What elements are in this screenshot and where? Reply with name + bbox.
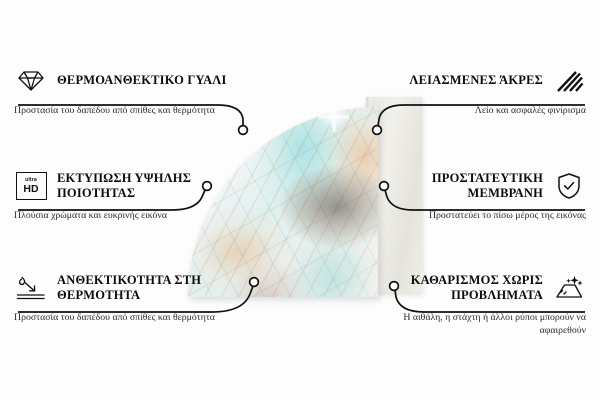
feature-title: ΕΚΤΥΠΩΣΗ ΥΨΗΛΗΣ ΠΟΙΟΤΗΤΑΣ <box>57 171 229 202</box>
feature-header: ΘΕΡΜΟΑΝΘΕΚΤΙΚΟ ΓΥΑΛΙ <box>14 64 229 98</box>
feature-subtitle: Η αιθάλη, η στάχτη ή άλλοι ρύποι μπορούν… <box>371 311 586 337</box>
feature-header: ΚΑΘΑΡΙΣΜΟΣ ΧΩΡΙΣ ΠΡΟΒΛΗΜΑΤΑ <box>371 271 586 305</box>
feature-subtitle: Προστασία του δαπέδου από σπίθες και θερ… <box>14 311 229 324</box>
flame-deflect-icon <box>14 273 48 303</box>
feature-title: ΘΕΡΜΟΑΝΘΕΚΤΙΚΟ ΓΥΑΛΙ <box>57 73 227 88</box>
infographic-canvas: ΘΕΡΜΟΑΝΘΕΚΤΙΚΟ ΓΥΑΛΙ Προστασία του δαπέδ… <box>0 0 600 400</box>
sparkle-clean-icon <box>552 273 586 303</box>
feature-high-quality-print[interactable]: ultra HD ΕΚΤΥΠΩΣΗ ΥΨΗΛΗΣ ΠΟΙΟΤΗΤΑΣ Πλούσ… <box>14 169 229 222</box>
feature-header: ΛΕΙΑΣΜΕΝΕΣ ΆΚΡΕΣ <box>371 64 586 98</box>
feature-header: ΑΝΘΕΚΤΙΚΟΤΗΤΑ ΣΤΗ ΘΕΡΜΟΤΗΤΑ <box>14 271 229 305</box>
ultra-hd-large-label: HD <box>23 184 38 195</box>
feature-subtitle: Πλούσια χρώματα και ευκρινής εικόνα <box>14 209 229 222</box>
feature-header: ultra HD ΕΚΤΥΠΩΣΗ ΥΨΗΛΗΣ ΠΟΙΟΤΗΤΑΣ <box>14 169 229 203</box>
feature-subtitle: Προστατεύει το πίσω μέρος της εικόνας <box>371 209 586 222</box>
feature-title: ΑΝΘΕΚΤΙΚΟΤΗΤΑ ΣΤΗ ΘΕΡΜΟΤΗΤΑ <box>57 273 229 304</box>
feature-subtitle: Λείο και ασφαλές φινίρισμα <box>371 104 586 117</box>
smooth-edges-icon <box>552 66 586 96</box>
feature-subtitle: Προστασία του δαπέδου από σπίθες και θερ… <box>14 104 229 117</box>
feature-title: ΛΕΙΑΣΜΕΝΕΣ ΆΚΡΕΣ <box>409 73 543 88</box>
feature-heat-durability[interactable]: ΑΝΘΕΚΤΙΚΟΤΗΤΑ ΣΤΗ ΘΕΡΜΟΤΗΤΑ Προστασία το… <box>14 271 229 324</box>
feature-smooth-edges[interactable]: ΛΕΙΑΣΜΕΝΕΣ ΆΚΡΕΣ Λείο και ασφαλές φινίρι… <box>371 64 586 117</box>
feature-protective-membrane[interactable]: ΠΡΟΣΤΑΤΕΥΤΙΚΗ ΜΕΜΒΡΑΝΗ Προστατεύει το πί… <box>371 169 586 222</box>
shield-check-icon <box>552 171 586 201</box>
feature-title: ΠΡΟΣΤΑΤΕΥΤΙΚΗ ΜΕΜΒΡΑΝΗ <box>371 171 543 202</box>
ultra-hd-icon: ultra HD <box>14 171 48 201</box>
feature-header: ΠΡΟΣΤΑΤΕΥΤΙΚΗ ΜΕΜΒΡΑΝΗ <box>371 169 586 203</box>
diamond-icon <box>14 66 48 96</box>
feature-title: ΚΑΘΑΡΙΣΜΟΣ ΧΩΡΙΣ ΠΡΟΒΛΗΜΑΤΑ <box>371 273 543 304</box>
feature-heat-resistant-glass[interactable]: ΘΕΡΜΟΑΝΘΕΚΤΙΚΟ ΓΥΑΛΙ Προστασία του δαπέδ… <box>14 64 229 117</box>
feature-easy-cleaning[interactable]: ΚΑΘΑΡΙΣΜΟΣ ΧΩΡΙΣ ΠΡΟΒΛΗΜΑΤΑ Η αιθάλη, η … <box>371 271 586 337</box>
